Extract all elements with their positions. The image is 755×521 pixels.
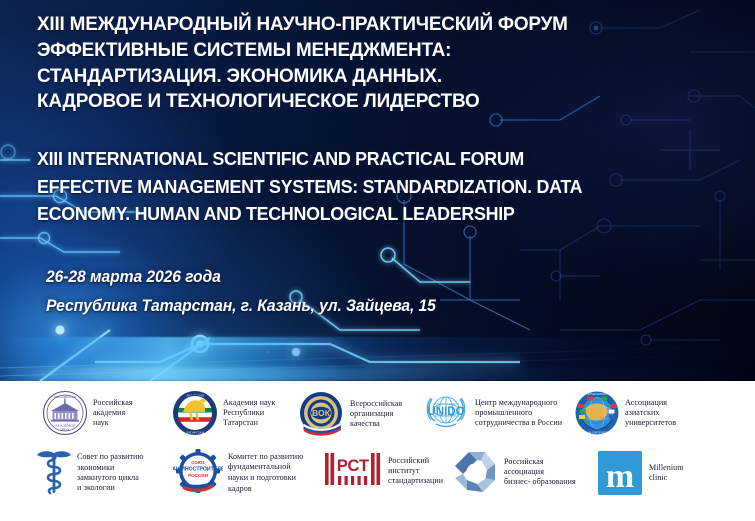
title-en-line-2: EFFECTIVE MANAGEMENT SYSTEMS: STANDARDIZ…: [37, 173, 719, 201]
forum-title-russian: XIII МЕЖДУНАРОДНЫЙ НАУЧНО-ПРАКТИЧЕСКИЙ Ф…: [37, 12, 737, 115]
logo-item-unido[interactable]: UNIDO Центр международного промышленного…: [422, 390, 574, 436]
title-ru-line-2: ЭФФЕКТИВНЫЕ СИСТЕМЫ МЕНЕДЖМЕНТА:: [37, 38, 716, 64]
banner-hero: XIII МЕЖДУНАРОДНЫЙ НАУЧНО-ПРАКТИЧЕСКИЙ Ф…: [0, 0, 755, 381]
soyuzmash-gear-icon: СОЮЗ МАШИНОСТРОИТЕЛЕЙ РОССИИ: [173, 449, 223, 497]
rabo-aperture-icon: [451, 449, 499, 495]
rst-standard-icon: РСТ: [323, 449, 383, 493]
unido-globe-icon: UNIDO: [422, 390, 470, 436]
forum-title-english: XIII INTERNATIONAL SCIENTIFIC AND PRACTI…: [37, 145, 747, 228]
partner-logos-footer: АКАДЕМИЯ НАУК РОССИЙСКАЯ Российская акад…: [0, 381, 755, 521]
logo-item-antat[interactable]: АКАДЕМИЯ ТАТАРСТАН Академия наук Республ…: [172, 390, 297, 436]
logo-item-soyuzmash[interactable]: СОЮЗ МАШИНОСТРОИТЕЛЕЙ РОССИИ Комитет по …: [173, 449, 323, 497]
event-date: 26-28 марта 2026 года: [46, 263, 436, 292]
logo-label-rabo: Российская ассоциация бизнес- образовани…: [504, 457, 576, 488]
svg-text:m: m: [606, 458, 634, 495]
event-location: Республика Татарстан, г. Казань, ул. Зай…: [46, 292, 436, 321]
title-ru-line-3: СТАНДАРТИЗАЦИЯ. ЭКОНОМИКА ДАННЫХ.: [37, 64, 716, 90]
logo-label-antat: Академия наук Республики Татарстан: [223, 398, 275, 429]
title-en-line-3: ECONOMY. HUMAN AND TECHNOLOGICAL LEADERS…: [37, 200, 719, 228]
svg-text:НАУК: НАУК: [60, 428, 70, 432]
logo-item-millenium[interactable]: m Millenium clinic: [596, 449, 716, 497]
logo-row-2: Совет по развитию экономики замкнутого ц…: [0, 449, 755, 497]
logo-item-rst[interactable]: РСТ Российский институт стандартизации: [323, 449, 451, 493]
logo-label-asia-uni: Ассоциация азиатских университетов: [625, 398, 676, 429]
logo-row-1: АКАДЕМИЯ НАУК РОССИЙСКАЯ Российская акад…: [0, 390, 755, 438]
forum-banner-page: XIII МЕЖДУНАРОДНЫЙ НАУЧНО-ПРАКТИЧЕСКИЙ Ф…: [0, 0, 755, 521]
logo-item-asia-uni[interactable]: ASSOCIATION ASIAN UNIVERSITIES Ассоциаци…: [574, 390, 704, 436]
logo-label-millenium: Millenium clinic: [649, 463, 684, 484]
event-meta: 26-28 марта 2026 года Республика Татарст…: [46, 263, 448, 321]
svg-text:РСТ: РСТ: [337, 457, 369, 475]
svg-text:СОЮЗ: СОЮЗ: [191, 460, 205, 465]
logo-item-circular-economy[interactable]: Совет по развитию экономики замкнутого ц…: [36, 449, 173, 497]
logo-label-circular-economy: Совет по развитию экономики замкнутого ц…: [77, 452, 144, 493]
title-ru-line-4: КАДРОВОЕ И ТЕХНОЛОГИЧЕСКОЕ ЛИДЕРСТВО: [37, 89, 716, 115]
svg-text:ASSOCIATION: ASSOCIATION: [588, 392, 608, 396]
caduceus-icon: [36, 449, 72, 497]
ras-seal-icon: АКАДЕМИЯ НАУК РОССИЙСКАЯ: [42, 390, 88, 436]
svg-text:ТАТАРСТАН: ТАТАРСТАН: [186, 430, 204, 434]
title-en-line-1: XIII INTERNATIONAL SCIENTIFIC AND PRACTI…: [37, 145, 719, 173]
svg-text:МАШИНОСТРОИТЕЛЕЙ: МАШИНОСТРОИТЕЛЕЙ: [173, 464, 223, 472]
millenium-clinic-icon: m: [596, 449, 644, 497]
logo-label-rst: Российский институт стандартизации: [388, 456, 443, 487]
logo-item-rabo[interactable]: Российская ассоциация бизнес- образовани…: [451, 449, 596, 495]
title-ru-line-1: XIII МЕЖДУНАРОДНЫЙ НАУЧНО-ПРАКТИЧЕСКИЙ Ф…: [37, 12, 716, 38]
svg-text:РОССИИ: РОССИИ: [188, 473, 208, 478]
svg-text:ВОК: ВОК: [312, 408, 331, 418]
svg-text:РОССИЙСКАЯ: РОССИЙСКАЯ: [54, 394, 77, 399]
logo-label-soyuzmash: Комитет по развитию фундаментальной наук…: [228, 452, 303, 494]
logo-item-ras[interactable]: АКАДЕМИЯ НАУК РОССИЙСКАЯ Российская акад…: [42, 390, 172, 436]
svg-text:UNIDO: UNIDO: [427, 406, 464, 418]
logo-label-unido: Центр международного промышленного сотру…: [475, 398, 562, 429]
logo-label-ras: Российская академия наук: [93, 398, 133, 429]
svg-text:ASIAN UNIVERSITIES: ASIAN UNIVERSITIES: [582, 430, 612, 434]
logo-item-vok[interactable]: ВОК Всероссийская организация качества: [297, 390, 422, 438]
vok-quality-icon: ВОК: [297, 390, 345, 438]
tatarstan-academy-icon: АКАДЕМИЯ ТАТАРСТАН: [172, 390, 218, 436]
asian-universities-icon: ASSOCIATION ASIAN UNIVERSITIES: [574, 390, 620, 436]
logo-label-vok: Всероссийская организация качества: [350, 399, 402, 430]
